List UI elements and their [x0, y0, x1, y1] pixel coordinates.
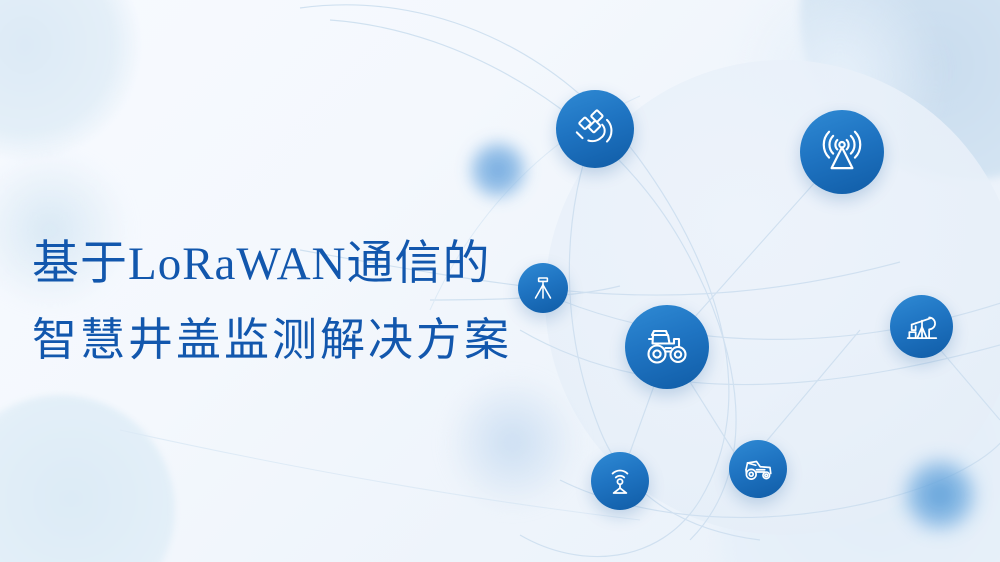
tractor-icon — [641, 321, 693, 373]
decor-dot-accent-top — [466, 138, 530, 202]
decor-dot-accent-bottom-right — [900, 455, 980, 535]
radio-tower-icon — [817, 127, 867, 177]
decor-blob-bottom-left — [0, 395, 175, 562]
title-block: 基于LoRaWAN通信的 智慧井盖监测解决方案 — [32, 226, 512, 378]
title-line-2: 智慧井盖监测解决方案 — [32, 302, 512, 378]
harvester-vehicle-icon — [740, 451, 776, 487]
oil-pumpjack-icon — [903, 308, 941, 346]
title-line-1: 基于LoRaWAN通信的 — [32, 226, 512, 302]
satellite-signal-icon — [572, 106, 618, 152]
node-satellite[interactable] — [556, 90, 634, 168]
slide-canvas: 基于LoRaWAN通信的 智慧井盖监测解决方案 — [0, 0, 1000, 562]
node-oil-pumpjack[interactable] — [890, 295, 953, 358]
decor-blob-mid-lower — [445, 375, 580, 510]
node-survey-tripod[interactable] — [518, 263, 568, 313]
node-radio-tower[interactable] — [800, 110, 884, 194]
survey-tripod-icon — [528, 273, 558, 303]
node-tractor[interactable] — [625, 305, 709, 389]
signal-beacon-icon — [603, 464, 637, 498]
node-harvester-vehicle[interactable] — [729, 440, 787, 498]
decor-blob-top-left — [0, 0, 140, 160]
node-signal-beacon[interactable] — [591, 452, 649, 510]
